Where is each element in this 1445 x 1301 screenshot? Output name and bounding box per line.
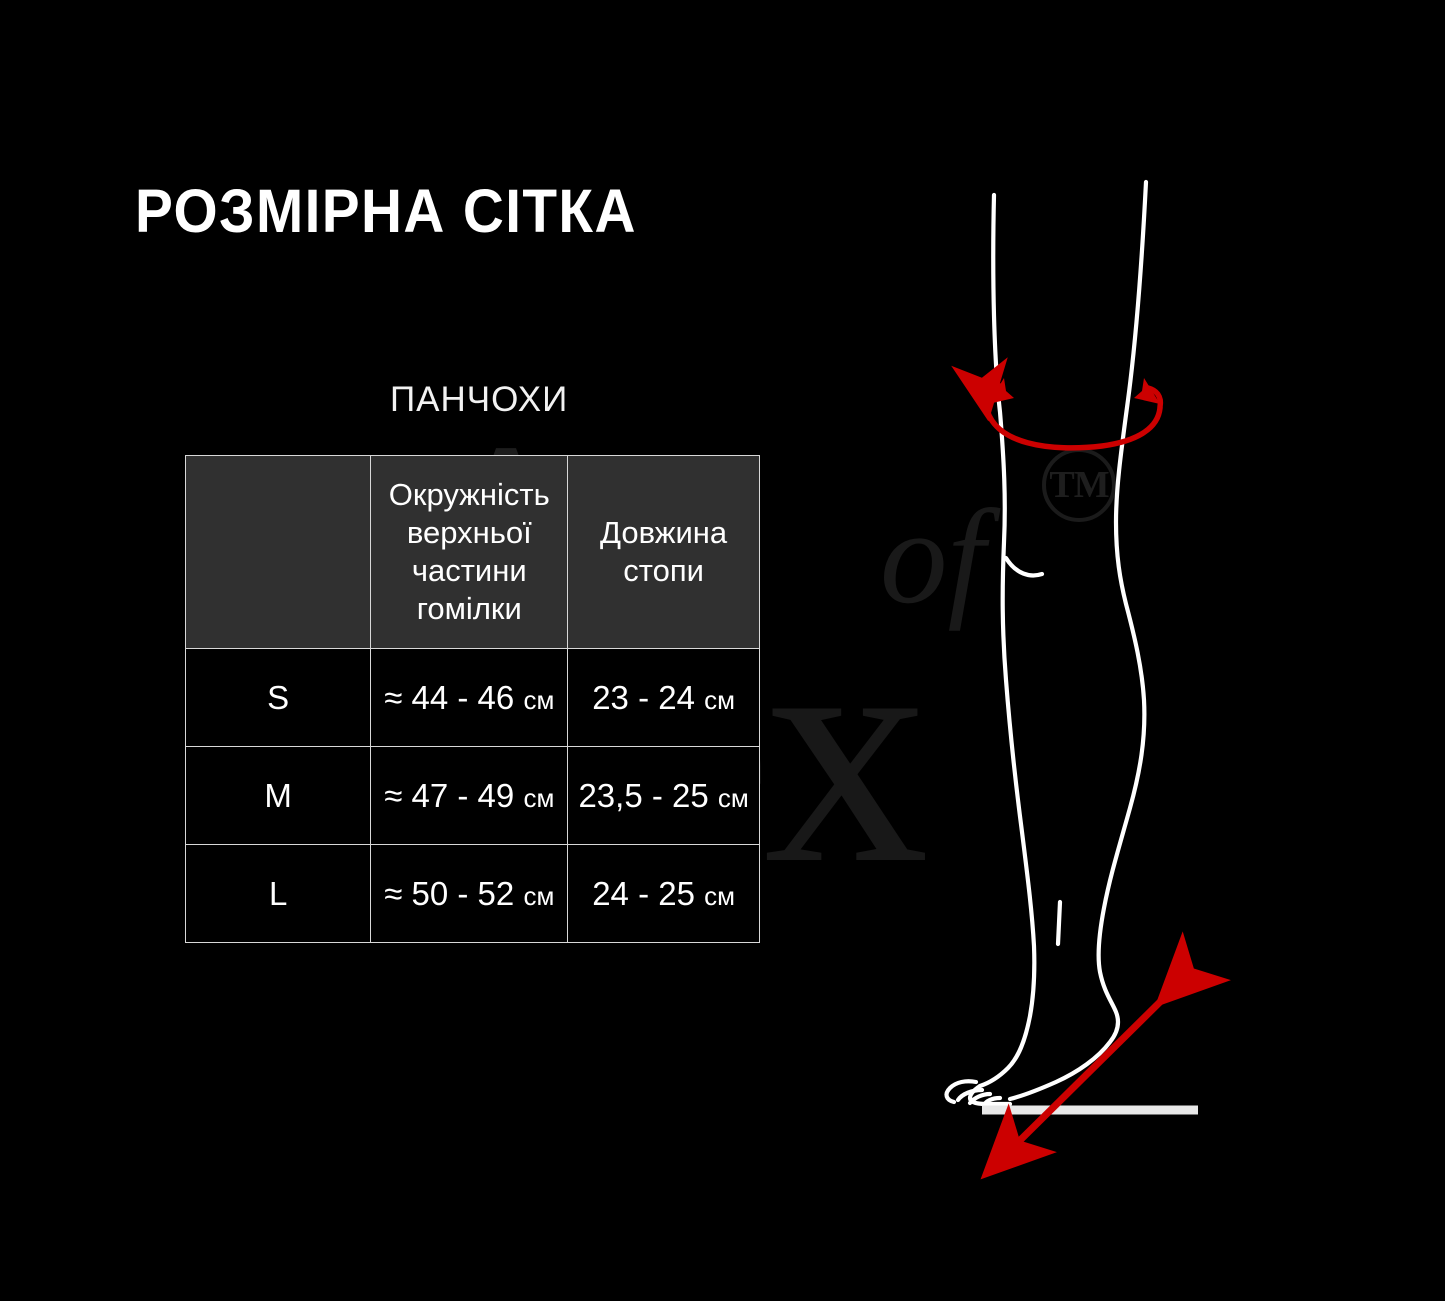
table-body: S ≈ 44 - 46 см 23 - 24 см M ≈ 47 - 49 см… bbox=[186, 649, 760, 943]
column-header-foot-length: Довжина стопи bbox=[568, 456, 760, 649]
page-title: РОЗМІРНА СІТКА bbox=[135, 176, 637, 246]
table-row: L ≈ 50 - 52 см 24 - 25 см bbox=[186, 845, 760, 943]
cell-size: M bbox=[186, 747, 371, 845]
cell-foot-length-unit: см bbox=[718, 783, 749, 813]
cell-foot-length: 24 - 25 см bbox=[568, 845, 760, 943]
cell-foot-length-unit: см bbox=[704, 881, 735, 911]
thigh-circumference-arrowheads-icon bbox=[988, 378, 1160, 404]
column-header-size bbox=[186, 456, 371, 649]
column-header-circumference: Окружність верхньої частини гомілки bbox=[371, 456, 568, 649]
cell-circumference-unit: см bbox=[523, 685, 554, 715]
table-row: S ≈ 44 - 46 см 23 - 24 см bbox=[186, 649, 760, 747]
leg-outline-icon bbox=[947, 182, 1146, 1105]
table-header: Окружність верхньої частини гомілки Довж… bbox=[186, 456, 760, 649]
cell-foot-length-value: 23,5 - 25 bbox=[578, 777, 708, 814]
cell-foot-length: 23 - 24 см bbox=[568, 649, 760, 747]
cell-foot-length-value: 23 - 24 bbox=[592, 679, 695, 716]
thigh-circumference-arrow-icon bbox=[986, 386, 1160, 448]
cell-circumference-value: ≈ 50 - 52 bbox=[384, 875, 514, 912]
table-row: M ≈ 47 - 49 см 23,5 - 25 см bbox=[186, 747, 760, 845]
cell-circumference-value: ≈ 44 - 46 bbox=[384, 679, 514, 716]
foot-length-arrow-icon bbox=[988, 1000, 1162, 1172]
cell-circumference-value: ≈ 47 - 49 bbox=[384, 777, 514, 814]
cell-circumference-unit: см bbox=[523, 783, 554, 813]
cell-foot-length-value: 24 - 25 bbox=[592, 875, 695, 912]
cell-circumference: ≈ 47 - 49 см bbox=[371, 747, 568, 845]
product-category-label: ПАНЧОХИ bbox=[390, 380, 568, 420]
size-chart-page: Art of Sex TM РОЗМІРНА СІТКА ПАНЧОХИ Окр… bbox=[0, 0, 1445, 1301]
cell-foot-length-unit: см bbox=[704, 685, 735, 715]
cell-foot-length: 23,5 - 25 см bbox=[568, 747, 760, 845]
cell-circumference: ≈ 44 - 46 см bbox=[371, 649, 568, 747]
cell-size: L bbox=[186, 845, 371, 943]
leg-illustration bbox=[930, 160, 1250, 1190]
cell-circumference: ≈ 50 - 52 см bbox=[371, 845, 568, 943]
size-table: Окружність верхньої частини гомілки Довж… bbox=[185, 455, 760, 943]
cell-circumference-unit: см bbox=[523, 881, 554, 911]
cell-size: S bbox=[186, 649, 371, 747]
table-header-row: Окружність верхньої частини гомілки Довж… bbox=[186, 456, 760, 649]
